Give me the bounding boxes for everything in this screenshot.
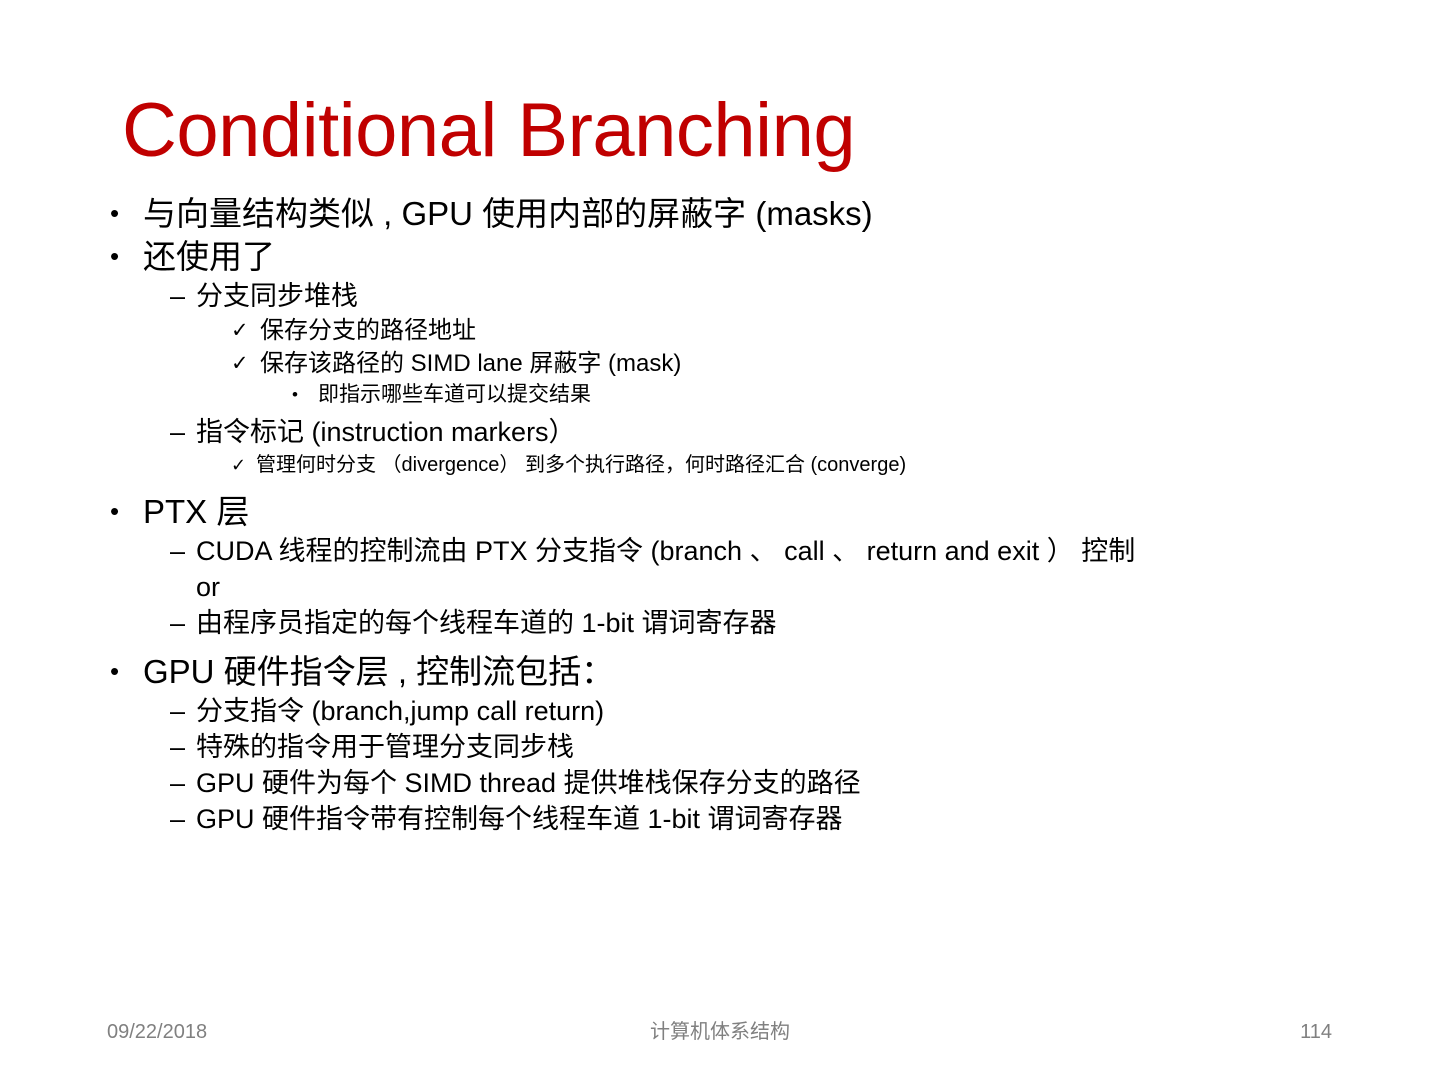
- footer-title: 计算机体系结构: [0, 1012, 1440, 1052]
- bullet-round-icon: •: [110, 192, 119, 235]
- dash-icon: –: [170, 533, 185, 569]
- bullet-item-continuation: or: [0, 569, 1400, 605]
- bullet-item: – GPU 硬件指令带有控制每个线程车道 1-bit 谓词寄存器: [0, 801, 1400, 837]
- dash-icon: –: [170, 801, 185, 837]
- dash-icon: –: [170, 693, 185, 729]
- bullet-item: • 即指示哪些车道可以提交结果: [0, 380, 1400, 410]
- bullet-item: – 分支同步堆栈: [0, 278, 1400, 314]
- dash-icon: –: [170, 278, 185, 314]
- slide: Conditional Branching • 与向量结构类似 , GPU 使用…: [0, 0, 1440, 1080]
- bullet-item: – 指令标记 (instruction markers）: [0, 414, 1400, 450]
- bullet-text: GPU 硬件指令层 , 控制流包括：: [143, 650, 1400, 693]
- bullet-small-icon: •: [292, 380, 298, 410]
- bullet-round-icon: •: [110, 235, 119, 278]
- bullet-text: 管理何时分支 （divergence） 到多个执行路径，何时路径汇合 (conv…: [256, 450, 1400, 481]
- bullet-item: – CUDA 线程的控制流由 PTX 分支指令 (branch 、 call 、…: [0, 533, 1400, 569]
- bullet-item: ✓ 保存分支的路径地址: [0, 314, 1400, 347]
- dash-icon: –: [170, 414, 185, 450]
- check-icon: ✓: [231, 347, 249, 380]
- bullet-item: – 分支指令 (branch,jump call return): [0, 693, 1400, 729]
- bullet-text: 指令标记 (instruction markers）: [196, 414, 1400, 450]
- bullet-text: GPU 硬件为每个 SIMD thread 提供堆栈保存分支的路径: [196, 765, 1400, 801]
- spacer: [0, 641, 1400, 650]
- bullet-text: GPU 硬件指令带有控制每个线程车道 1-bit 谓词寄存器: [196, 801, 1400, 837]
- slide-body: • 与向量结构类似 , GPU 使用内部的屏蔽字 (masks) • 还使用了 …: [0, 192, 1400, 837]
- bullet-text: 即指示哪些车道可以提交结果: [318, 380, 1400, 410]
- bullet-round-icon: •: [110, 650, 119, 693]
- bullet-item: ✓ 管理何时分支 （divergence） 到多个执行路径，何时路径汇合 (co…: [0, 450, 1400, 481]
- bullet-item: – GPU 硬件为每个 SIMD thread 提供堆栈保存分支的路径: [0, 765, 1400, 801]
- bullet-text: 分支指令 (branch,jump call return): [196, 693, 1400, 729]
- bullet-item: ✓ 保存该路径的 SIMD lane 屏蔽字 (mask): [0, 347, 1400, 380]
- bullet-text: 还使用了: [143, 235, 1400, 278]
- footer-page-number: 114: [1300, 1012, 1332, 1052]
- bullet-item: • 还使用了: [0, 235, 1400, 278]
- check-icon: ✓: [231, 450, 246, 481]
- bullet-item: • GPU 硬件指令层 , 控制流包括：: [0, 650, 1400, 693]
- bullet-text: 分支同步堆栈: [196, 278, 1400, 314]
- bullet-round-icon: •: [110, 490, 119, 533]
- bullet-text: PTX 层: [143, 490, 1400, 533]
- bullet-item: – 特殊的指令用于管理分支同步栈: [0, 729, 1400, 765]
- bullet-text: or: [196, 569, 1400, 605]
- dash-icon: –: [170, 605, 185, 641]
- bullet-text: 由程序员指定的每个线程车道的 1-bit 谓词寄存器: [196, 605, 1400, 641]
- bullet-text: 保存分支的路径地址: [260, 314, 1400, 347]
- dash-icon: –: [170, 765, 185, 801]
- bullet-text: 特殊的指令用于管理分支同步栈: [196, 729, 1400, 765]
- page-title: Conditional Branching: [122, 93, 855, 169]
- bullet-item: • 与向量结构类似 , GPU 使用内部的屏蔽字 (masks): [0, 192, 1400, 235]
- dash-icon: –: [170, 729, 185, 765]
- bullet-text: CUDA 线程的控制流由 PTX 分支指令 (branch 、 call 、 r…: [196, 533, 1400, 569]
- check-icon: ✓: [231, 314, 249, 347]
- bullet-text: 保存该路径的 SIMD lane 屏蔽字 (mask): [260, 347, 1400, 380]
- bullet-text: 与向量结构类似 , GPU 使用内部的屏蔽字 (masks): [143, 192, 1400, 235]
- slide-footer: 09/22/2018 计算机体系结构 114: [0, 1012, 1440, 1052]
- bullet-item: – 由程序员指定的每个线程车道的 1-bit 谓词寄存器: [0, 605, 1400, 641]
- bullet-item: • PTX 层: [0, 490, 1400, 533]
- spacer: [0, 481, 1400, 490]
